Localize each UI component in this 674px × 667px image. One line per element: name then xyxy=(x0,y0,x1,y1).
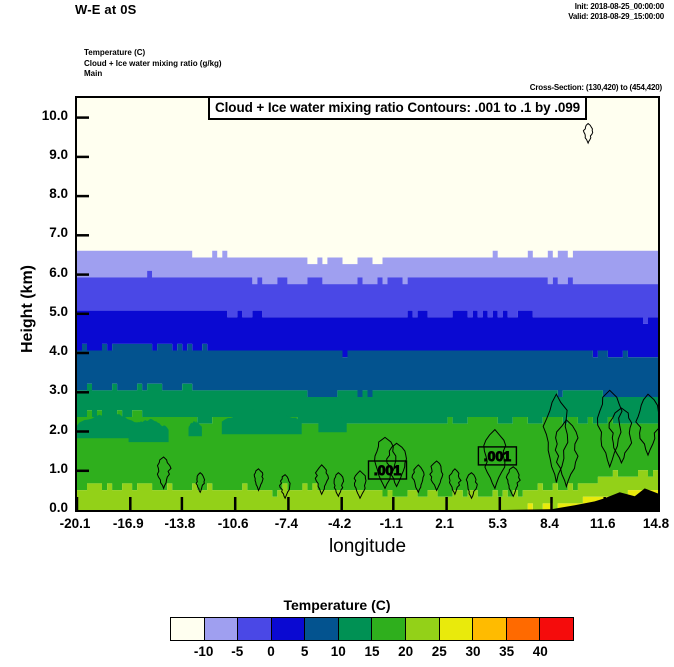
y-tick-label: 4.0 xyxy=(2,343,68,358)
colorbar-swatches xyxy=(170,617,574,641)
y-tick-label: 6.0 xyxy=(2,265,68,280)
colorbar-swatch-3 xyxy=(238,618,272,640)
colorbar-swatch-10 xyxy=(473,618,507,640)
colorbar-tick-label: 40 xyxy=(520,644,560,659)
colorbar-swatch-9 xyxy=(440,618,474,640)
x-tick-label: -13.8 xyxy=(150,516,210,531)
svg-text:.001: .001 xyxy=(484,448,511,464)
y-tick-label: 9.0 xyxy=(2,147,68,162)
x-tick-label: -20.1 xyxy=(45,516,105,531)
colorbar-swatch-11 xyxy=(507,618,541,640)
colorbar-swatch-8 xyxy=(406,618,440,640)
valid-time-label: Valid: 2018-08-29_15:00:00 xyxy=(568,12,664,21)
y-tick-label: 3.0 xyxy=(2,382,68,397)
svg-text:.001: .001 xyxy=(374,462,401,478)
band-5-to-10 xyxy=(77,344,658,397)
colorbar-swatch-12 xyxy=(540,618,573,640)
contour-label-left: .001 xyxy=(369,461,407,479)
contour-plot-canvas: .001.001 xyxy=(77,98,658,510)
colorbar-tick-labels: -10-50510152025303540 xyxy=(170,644,574,664)
contour-title-box: Cloud + Ice water mixing ratio Contours:… xyxy=(208,96,587,120)
x-tick-label: 11.6 xyxy=(573,516,633,531)
temperature-fill-bands xyxy=(77,98,658,510)
colorbar-swatch-1 xyxy=(171,618,205,640)
y-tick-label: 10.0 xyxy=(2,108,68,123)
page-title: W-E at 0S xyxy=(75,2,137,17)
field-legend: Temperature (C) Cloud + Ice water mixing… xyxy=(84,48,222,80)
x-tick-label: -7.4 xyxy=(256,516,316,531)
y-tick-label: 1.0 xyxy=(2,461,68,476)
init-time-label: Init: 2018-08-25_00:00:00 xyxy=(575,2,664,11)
y-tick-label: 0.0 xyxy=(2,500,68,515)
x-tick-label: 8.4 xyxy=(520,516,580,531)
y-axis-tick-labels: 0.01.02.03.04.05.06.07.08.09.010.0 xyxy=(0,96,68,512)
colorbar-swatch-2 xyxy=(205,618,239,640)
colorbar-swatch-6 xyxy=(339,618,373,640)
cross-section-label: Cross-Section: (130,420) to (454,420) xyxy=(530,83,662,92)
y-tick-label: 2.0 xyxy=(2,422,68,437)
x-axis-title: longitude xyxy=(75,536,660,558)
colorbar-swatch-7 xyxy=(372,618,406,640)
y-tick-label: 5.0 xyxy=(2,304,68,319)
field-legend-line-1: Temperature (C) xyxy=(84,48,222,59)
contour-label-right: .001 xyxy=(478,447,516,465)
x-tick-label: -1.1 xyxy=(361,516,421,531)
cross-section-plot: .001.001 xyxy=(75,96,660,512)
colorbar-title: Temperature (C) xyxy=(0,597,674,613)
colorbar-swatch-5 xyxy=(305,618,339,640)
x-tick-label: 14.8 xyxy=(626,516,674,531)
y-tick-label: 7.0 xyxy=(2,225,68,240)
y-tick-label: 8.0 xyxy=(2,186,68,201)
field-legend-line-2: Cloud + Ice water mixing ratio (g/kg) xyxy=(84,59,222,70)
x-axis-tick-labels: -20.1-16.9-13.8-10.6-7.4-4.2-1.12.15.38.… xyxy=(75,516,660,536)
band-below-minus10 xyxy=(77,98,658,264)
x-tick-label: 2.1 xyxy=(415,516,475,531)
field-legend-line-3: Main xyxy=(84,69,222,80)
x-tick-label: -10.6 xyxy=(203,516,263,531)
colorbar-swatch-4 xyxy=(272,618,306,640)
